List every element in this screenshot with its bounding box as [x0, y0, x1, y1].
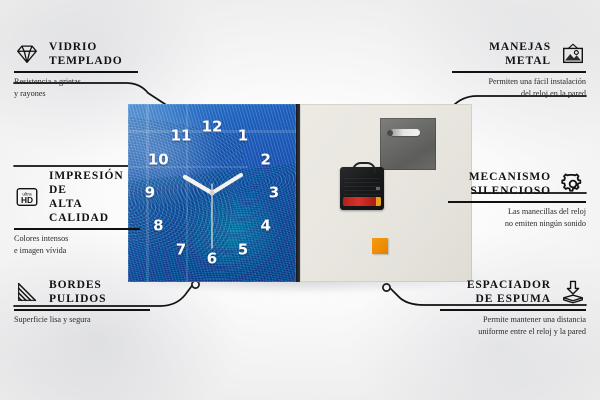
callout-subtitle: Superficie lisa y segura: [14, 314, 150, 326]
callout-divider: [440, 309, 586, 311]
callout-subtitle: Las manecillas del reloj no emiten ningú…: [448, 206, 586, 230]
callout-mecanismo-silencioso[interactable]: MECANISMO SILENCIOSO Las manecillas del …: [448, 170, 586, 229]
callout-header: ESPACIADOR DE ESPUMA: [440, 278, 586, 306]
diamond-icon: [14, 41, 40, 67]
callout-title: IMPRESIÓN DE ALTA CALIDAD: [49, 169, 140, 225]
callout-header: MANEJAS METAL: [452, 40, 586, 68]
callout-header: BORDES PULIDOS: [14, 278, 150, 306]
callout-divider: [14, 71, 138, 73]
hanger-hole: [387, 130, 393, 136]
metal-hanger-plate: [380, 118, 436, 170]
movement-casing-texture: [344, 175, 380, 195]
movement-hanging-loop: [352, 162, 376, 173]
callout-title: ESPACIADOR DE ESPUMA: [467, 278, 551, 306]
quartz-clock-movement: [340, 167, 384, 210]
foam-spacer: [372, 238, 388, 254]
polished-edges-icon: [14, 279, 40, 305]
picture-frame-hanger-icon: [560, 41, 586, 67]
aa-battery: [343, 197, 381, 206]
callout-divider: [452, 71, 586, 73]
callout-espaciador-espuma[interactable]: ESPACIADOR DE ESPUMA Permite mantener un…: [440, 278, 586, 337]
gear-icon: [560, 171, 586, 197]
callout-subtitle: Permiten una fácil instalación del reloj…: [452, 76, 586, 100]
clock-front-face: 121234567891011: [128, 104, 296, 282]
callout-header: ultra HD IMPRESIÓN DE ALTA CALIDAD: [14, 169, 140, 225]
ultra-hd-icon-large-text: HD: [21, 195, 33, 205]
foam-spacer-arrow-icon: [560, 279, 586, 305]
hanger-slot: [390, 129, 420, 136]
callout-bordes-pulidos[interactable]: BORDES PULIDOS Superficie lisa y segura: [14, 278, 150, 326]
callout-manejas-metal[interactable]: MANEJAS METAL Permiten una fácil instala…: [452, 40, 586, 99]
clock-hands: [128, 104, 296, 282]
callout-divider: [14, 309, 150, 311]
callout-header: VIDRIO TEMPLADO: [14, 40, 138, 68]
callout-divider: [14, 228, 140, 230]
callout-header: MECANISMO SILENCIOSO: [448, 170, 586, 198]
callout-title: VIDRIO TEMPLADO: [49, 40, 123, 68]
callout-title: MANEJAS METAL: [489, 40, 551, 68]
clock-back-panel: [300, 104, 472, 282]
callout-title: MECANISMO SILENCIOSO: [469, 170, 551, 198]
callout-subtitle: Permite mantener una distancia uniforme …: [440, 314, 586, 338]
callout-vidrio-templado[interactable]: VIDRIO TEMPLADO Resistencia a grietas y …: [14, 40, 138, 99]
callout-title: BORDES PULIDOS: [49, 278, 106, 306]
callout-subtitle: Colores intensos e imagen vívida: [14, 233, 140, 257]
callout-divider: [448, 201, 586, 203]
callout-impresion-alta-calidad[interactable]: ultra HD IMPRESIÓN DE ALTA CALIDAD Color…: [14, 169, 140, 256]
ultra-hd-icon: ultra HD: [14, 184, 40, 210]
movement-terminal: [376, 187, 380, 190]
infographic-canvas: 121234567891011: [0, 0, 600, 400]
callout-subtitle: Resistencia a grietas y rayones: [14, 76, 138, 100]
product-image: 121234567891011: [128, 104, 472, 282]
